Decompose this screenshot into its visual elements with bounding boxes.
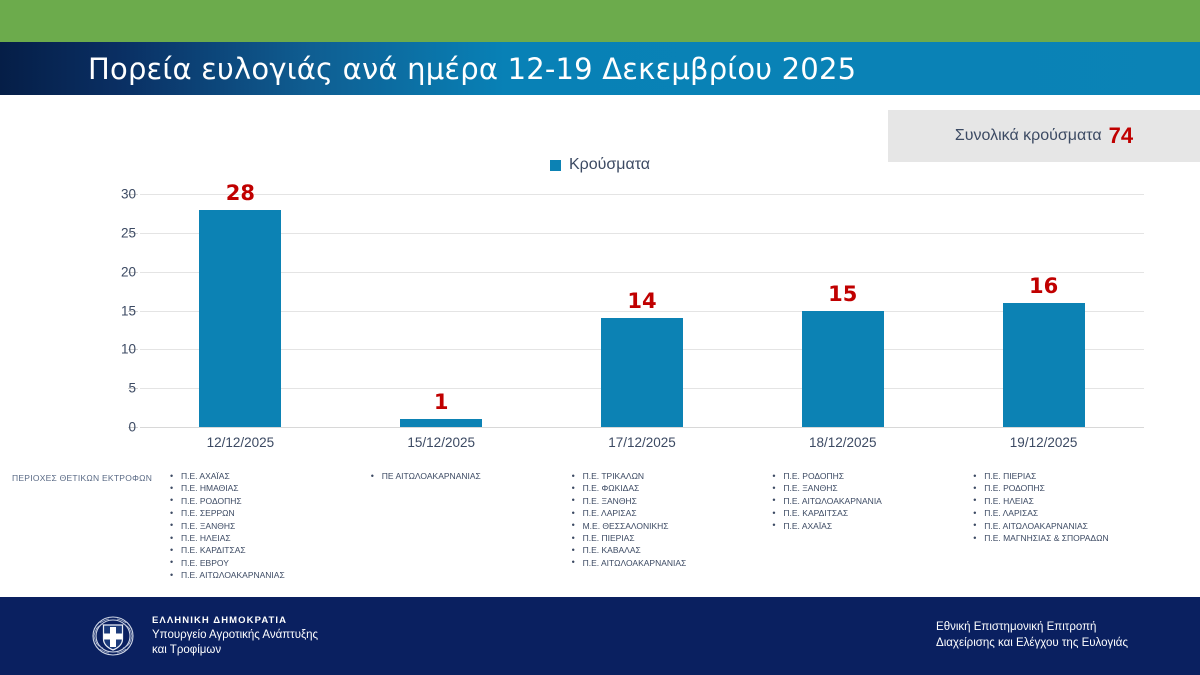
footer-brand-text: ΕΛΛΗΝΙΚΗ ΔΗΜΟΚΡΑΤΙΑ Υπουργείο Αγροτικής … — [152, 615, 318, 658]
footer-brand: ΕΛΛΗΝΙΚΗ ΔΗΜΟΚΡΑΤΙΑ Υπουργείο Αγροτικής … — [88, 611, 318, 661]
region-list-item: Μ.Ε. ΘΕΣΣΑΛΟΝΙΚΗΣ — [572, 520, 743, 532]
legend-series-label: Κρούσματα — [569, 156, 650, 174]
bar-value-label: 14 — [627, 289, 656, 313]
top-green-band — [0, 0, 1200, 42]
region-list-item: Π.Ε. ΡΟΔΟΠΗΣ — [170, 495, 341, 507]
region-list-item: Π.Ε. ΑΙΤΩΛΟΑΚΑΡΝΑΝΙΑΣ — [572, 557, 743, 569]
y-axis-tick-label: 0 — [76, 420, 136, 435]
chart-legend: Κρούσματα — [0, 156, 1200, 174]
x-axis-tick-label: 18/12/2025 — [742, 435, 943, 450]
region-list-item: Π.Ε. ΗΛΕΙΑΣ — [973, 495, 1144, 507]
region-list-item: Π.Ε. ΑΙΤΩΛΟΑΚΑΡΝΑΝΙΑ — [772, 495, 943, 507]
region-list-item: Π.Ε. ΚΑΒΑΛΑΣ — [572, 544, 743, 556]
region-list-item: ΠΕ ΑΙΤΩΛΟΑΚΑΡΝΑΝΙΑΣ — [371, 470, 542, 482]
region-list-item: Π.Ε. ΣΕΡΡΩΝ — [170, 507, 341, 519]
footer-brand-line2: Υπουργείο Αγροτικής Ανάπτυξης — [152, 628, 318, 643]
bar[interactable] — [802, 311, 884, 428]
regions-columns: Π.Ε. ΑΧΑΪΑΣΠ.Ε. ΗΜΑΘΙΑΣΠ.Ε. ΡΟΔΟΠΗΣΠ.Ε. … — [140, 470, 1144, 582]
bar-slot: 28 — [140, 194, 341, 427]
region-list-item: Π.Ε. ΞΑΝΘΗΣ — [572, 495, 743, 507]
region-list-item: Π.Ε. ΠΙΕΡΙΑΣ — [973, 470, 1144, 482]
regions-section: ΠΕΡΙΟΧΕΣ ΘΕΤΙΚΩΝ ΕΚΤΡΟΦΩΝ Π.Ε. ΑΧΑΪΑΣΠ.Ε… — [0, 470, 1200, 595]
region-list-item: Π.Ε. ΑΙΤΩΛΟΑΚΑΡΝΑΝΙΑΣ — [170, 569, 341, 581]
bar-slot: 1 — [341, 194, 542, 427]
page-title: Πορεία ευλογιάς ανά ημέρα 12-19 Δεκεμβρί… — [88, 52, 856, 86]
bar[interactable] — [601, 318, 683, 427]
region-list-item: Π.Ε. ΞΑΝΘΗΣ — [772, 482, 943, 494]
y-axis-tick-label: 20 — [76, 264, 136, 279]
bar-value-label: 1 — [434, 390, 449, 414]
y-axis-tick-label: 15 — [76, 303, 136, 318]
bar-value-label: 16 — [1029, 274, 1058, 298]
legend-swatch-icon — [550, 160, 561, 171]
total-cases-value: 74 — [1109, 123, 1133, 149]
bar[interactable] — [1003, 303, 1085, 427]
region-list-item: Π.Ε. ΡΟΔΟΠΗΣ — [772, 470, 943, 482]
region-list-item: Π.Ε. ΤΡΙΚΑΛΩΝ — [572, 470, 743, 482]
region-column: Π.Ε. ΤΡΙΚΑΛΩΝΠ.Ε. ΦΩΚΙΔΑΣΠ.Ε. ΞΑΝΘΗΣΠ.Ε.… — [542, 470, 743, 582]
region-list-item: Π.Ε. ΞΑΝΘΗΣ — [170, 520, 341, 532]
bar-value-label: 15 — [828, 282, 857, 306]
bar-slot: 14 — [542, 194, 743, 427]
footer-committee: Εθνική Επιστημονική Επιτροπή Διαχείρισης… — [936, 619, 1128, 651]
region-column: Π.Ε. ΡΟΔΟΠΗΣΠ.Ε. ΞΑΝΘΗΣΠ.Ε. ΑΙΤΩΛΟΑΚΑΡΝΑ… — [742, 470, 943, 582]
title-bar: Πορεία ευλογιάς ανά ημέρα 12-19 Δεκεμβρί… — [0, 42, 1200, 95]
footer-brand-line3: και Τροφίμων — [152, 643, 318, 658]
bar-slot: 16 — [943, 194, 1144, 427]
chart-bars: 281141516 — [140, 194, 1144, 427]
region-list-item: Π.Ε. ΕΒΡΟΥ — [170, 557, 341, 569]
y-axis-tick-label: 30 — [76, 187, 136, 202]
footer-committee-line2: Διαχείρισης και Ελέγχου της Ευλογιάς — [936, 635, 1128, 651]
region-list-item: Π.Ε. ΑΧΑΪΑΣ — [772, 520, 943, 532]
x-axis-tick-label: 19/12/2025 — [943, 435, 1144, 450]
chart-plot-area: 051015202530 281141516 — [140, 194, 1144, 427]
y-axis-tick-label: 10 — [76, 342, 136, 357]
bar-slot: 15 — [742, 194, 943, 427]
region-list-item: Π.Ε. ΑΙΤΩΛΟΑΚΑΡΝΑΝΙΑΣ — [973, 520, 1144, 532]
greek-coat-of-arms-icon — [88, 611, 138, 661]
y-axis-tick-label: 25 — [76, 225, 136, 240]
y-axis-tick-label: 5 — [76, 381, 136, 396]
footer-bar: ΕΛΛΗΝΙΚΗ ΔΗΜΟΚΡΑΤΙΑ Υπουργείο Αγροτικής … — [0, 597, 1200, 675]
region-list-item: Π.Ε. ΗΜΑΘΙΑΣ — [170, 482, 341, 494]
x-axis-tick-label: 15/12/2025 — [341, 435, 542, 450]
region-column: Π.Ε. ΠΙΕΡΙΑΣΠ.Ε. ΡΟΔΟΠΗΣΠ.Ε. ΗΛΕΙΑΣΠ.Ε. … — [943, 470, 1144, 582]
bar[interactable] — [199, 210, 281, 427]
region-list-item: Π.Ε. ΚΑΡΔΙΤΣΑΣ — [170, 544, 341, 556]
bar-chart: 051015202530 281141516 12/12/202515/12/2… — [0, 186, 1200, 456]
footer-committee-line1: Εθνική Επιστημονική Επιτροπή — [936, 619, 1128, 635]
region-list-item: Π.Ε. ΜΑΓΝΗΣΙΑΣ & ΣΠΟΡΑΔΩΝ — [973, 532, 1144, 544]
region-list-item: Π.Ε. ΚΑΡΔΙΤΣΑΣ — [772, 507, 943, 519]
total-cases-label: Συνολικά κρούσματα — [955, 127, 1102, 145]
bar[interactable] — [400, 419, 482, 427]
bar-value-label: 28 — [226, 181, 255, 205]
region-list-item: Π.Ε. ΛΑΡΙΣΑΣ — [572, 507, 743, 519]
x-axis-tick-label: 17/12/2025 — [542, 435, 743, 450]
total-cases-box: Συνολικά κρούσματα 74 — [888, 110, 1200, 162]
region-list-item: Π.Ε. ΑΧΑΪΑΣ — [170, 470, 341, 482]
gridline — [140, 427, 1144, 428]
region-column: Π.Ε. ΑΧΑΪΑΣΠ.Ε. ΗΜΑΘΙΑΣΠ.Ε. ΡΟΔΟΠΗΣΠ.Ε. … — [140, 470, 341, 582]
region-list-item: Π.Ε. ΗΛΕΙΑΣ — [170, 532, 341, 544]
region-column: ΠΕ ΑΙΤΩΛΟΑΚΑΡΝΑΝΙΑΣ — [341, 470, 542, 582]
x-axis-tick-label: 12/12/2025 — [140, 435, 341, 450]
region-list-item: Π.Ε. ΛΑΡΙΣΑΣ — [973, 507, 1144, 519]
region-list-item: Π.Ε. ΠΙΕΡΙΑΣ — [572, 532, 743, 544]
footer-brand-line1: ΕΛΛΗΝΙΚΗ ΔΗΜΟΚΡΑΤΙΑ — [152, 615, 318, 626]
region-list-item: Π.Ε. ΡΟΔΟΠΗΣ — [973, 482, 1144, 494]
region-list-item: Π.Ε. ΦΩΚΙΔΑΣ — [572, 482, 743, 494]
chart-x-axis-labels: 12/12/202515/12/202517/12/202518/12/2025… — [140, 435, 1144, 450]
